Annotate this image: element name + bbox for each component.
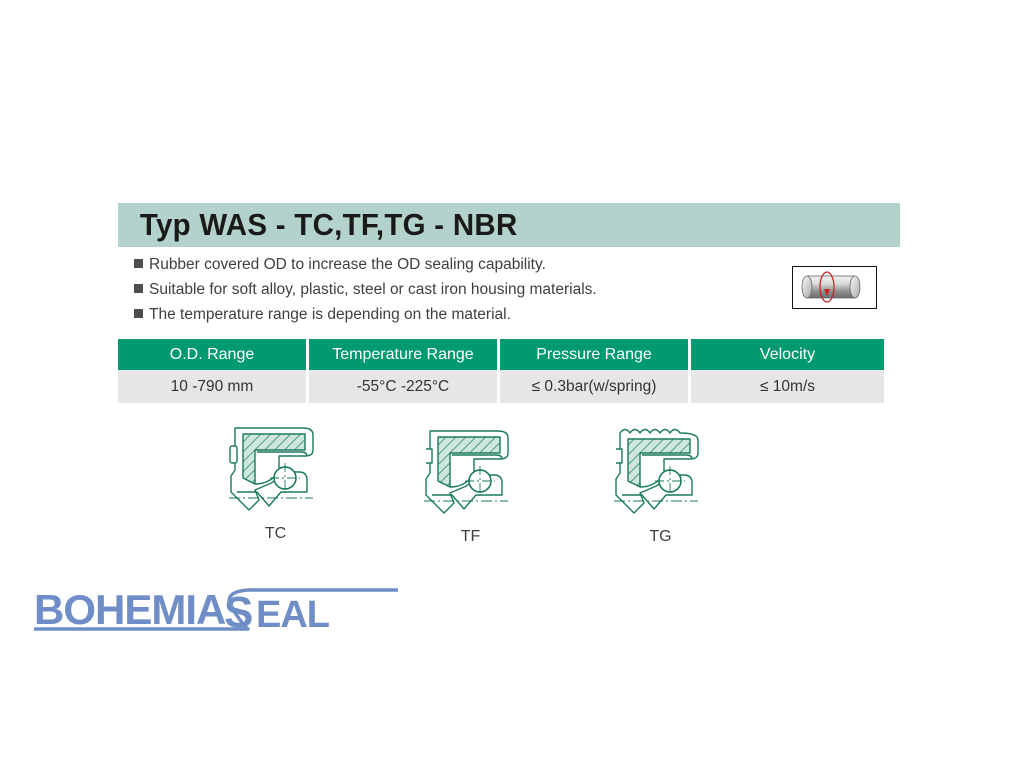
svg-text:EAL: EAL <box>256 594 330 636</box>
seal-diagram-tc: TC <box>208 418 343 543</box>
table-cell-temperature-range: -55°C -225°C <box>309 370 500 403</box>
table-cell-pressure-range: ≤ 0.3bar(w/spring) <box>500 370 691 403</box>
seal-label-tg: TG <box>593 528 728 546</box>
seal-diagram-tf: TF <box>403 421 538 546</box>
table-header-od-range: O.D. Range <box>118 339 309 370</box>
shaft-rotation-graphic <box>793 267 875 307</box>
list-item: Rubber covered OD to increase the OD sea… <box>134 256 734 278</box>
svg-text:BOHEMIA: BOHEMIA <box>34 586 226 633</box>
table-cell-velocity: ≤ 10m/s <box>691 370 884 403</box>
list-item: The temperature range is depending on th… <box>134 306 734 328</box>
company-logo: BOHEMIA EAL S <box>16 576 416 638</box>
seal-cross-section-tf-graphic <box>412 421 530 521</box>
table-header-velocity: Velocity <box>691 339 884 370</box>
table-header-pressure-range: Pressure Range <box>500 339 691 370</box>
logo-text-seal: EAL <box>256 594 330 636</box>
logo-text-s: S <box>224 588 253 637</box>
feature-text: Suitable for soft alloy, plastic, steel … <box>149 281 597 299</box>
seal-label-tc: TC <box>208 525 343 543</box>
seal-diagram-tg: TG <box>593 421 728 546</box>
feature-text: Rubber covered OD to increase the OD sea… <box>149 256 546 274</box>
table-header-temperature-range: Temperature Range <box>309 339 500 370</box>
page-title: Typ WAS - TC,TF,TG - NBR <box>118 207 518 243</box>
seal-label-tf: TF <box>403 528 538 546</box>
page-title-banner: Typ WAS - TC,TF,TG - NBR <box>118 203 900 247</box>
bohemia-seal-logo-graphic: BOHEMIA EAL S <box>16 576 416 638</box>
bullet-square-icon <box>134 309 143 318</box>
bullet-square-icon <box>134 259 143 268</box>
seal-cross-section-tg-graphic <box>602 421 720 521</box>
spec-table: O.D. Range Temperature Range Pressure Ra… <box>118 339 884 403</box>
seal-diagram-row: TC TF <box>118 418 878 553</box>
svg-text:S: S <box>224 588 253 637</box>
feature-text: The temperature range is depending on th… <box>149 306 511 324</box>
table-row: 10 -790 mm -55°C -225°C ≤ 0.3bar(w/sprin… <box>118 370 884 403</box>
seal-cross-section-tc-graphic <box>217 418 335 518</box>
logo-text-bohemia: BOHEMIA <box>34 586 226 633</box>
feature-list: Rubber covered OD to increase the OD sea… <box>134 256 734 331</box>
list-item: Suitable for soft alloy, plastic, steel … <box>134 281 734 303</box>
table-header-row: O.D. Range Temperature Range Pressure Ra… <box>118 339 884 370</box>
table-cell-od-range: 10 -790 mm <box>118 370 309 403</box>
bullet-square-icon <box>134 284 143 293</box>
shaft-rotation-icon <box>792 266 877 309</box>
